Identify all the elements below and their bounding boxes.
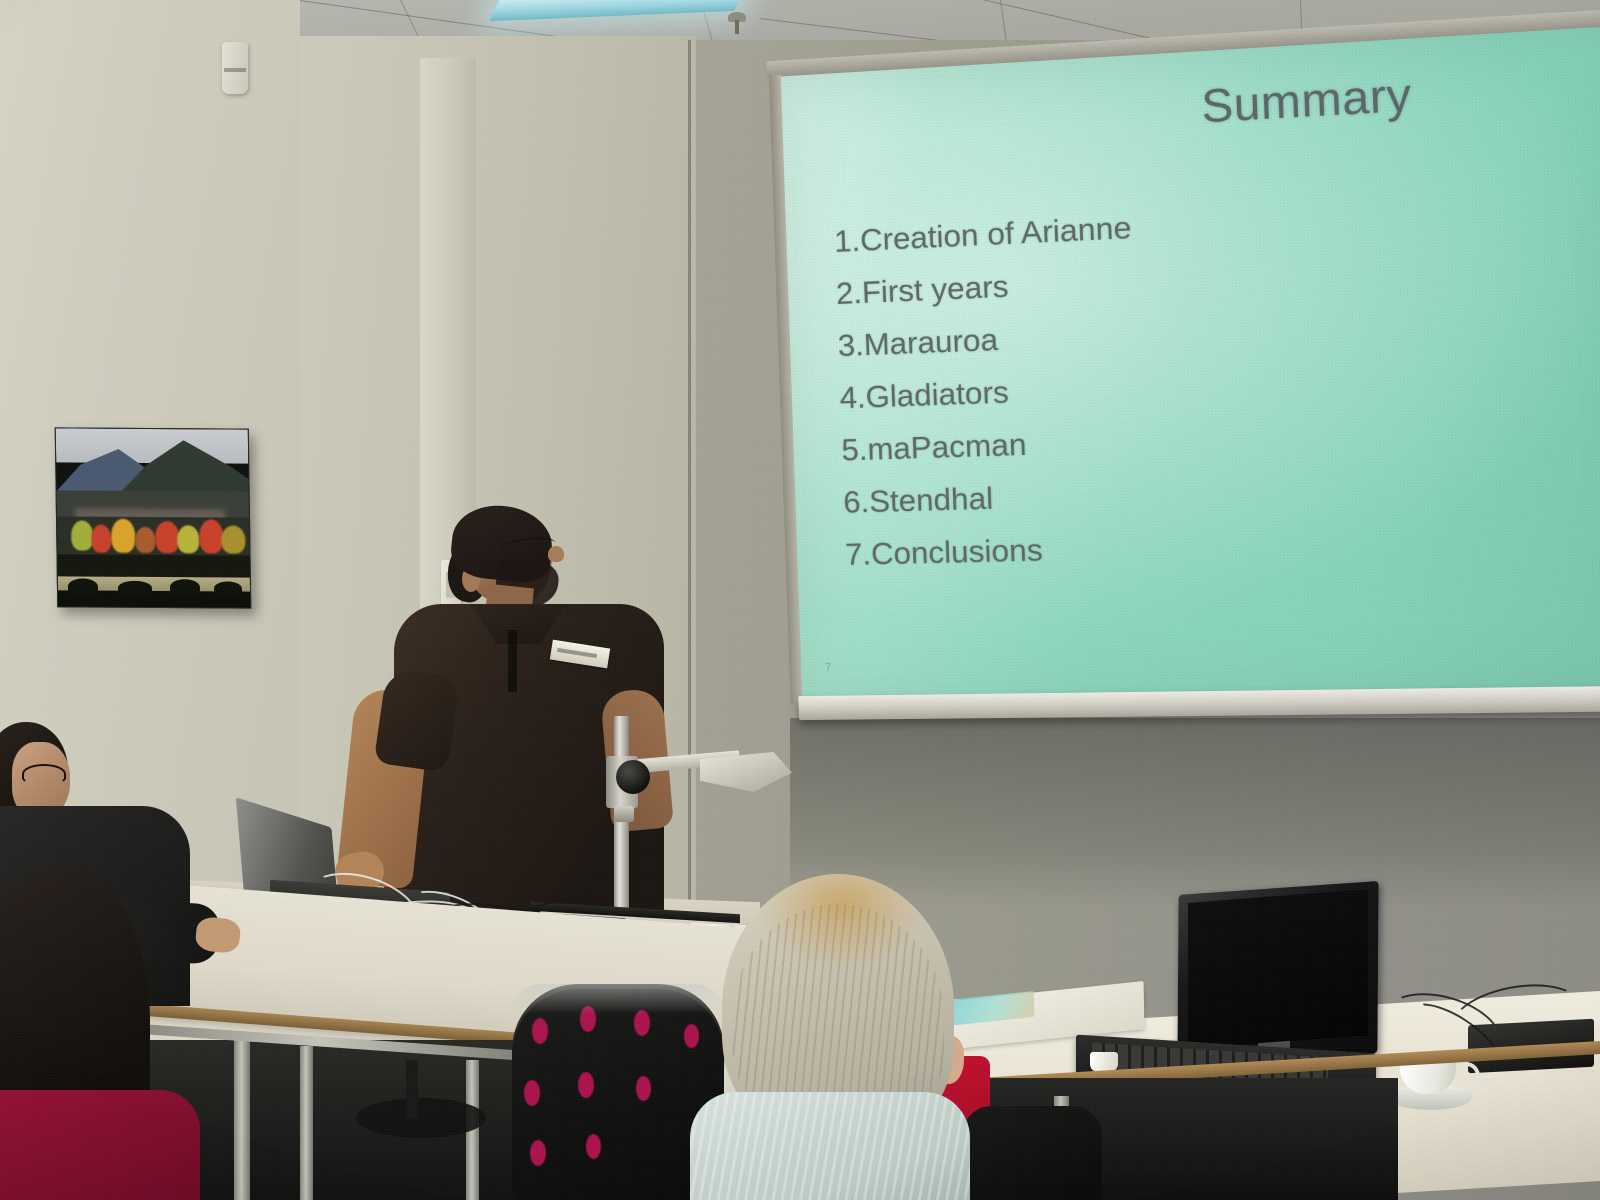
picture-bush: [214, 581, 242, 595]
projected-slide: Summary 1.Creation of Arianne 2.First ye…: [781, 25, 1600, 698]
chair-post: [406, 1060, 418, 1118]
audience-glasses-icon: [22, 764, 66, 784]
slide-list-number: 3.: [837, 329, 864, 361]
picture-foliage: [221, 525, 245, 553]
picture-bush: [68, 578, 98, 594]
audience-center-foreground: [690, 1092, 970, 1200]
slide-list-item: 5.maPacman: [841, 410, 1581, 465]
slide-list-text: Gladiators: [865, 374, 1009, 414]
wall-sensor-band: [224, 68, 246, 72]
slide-list-number: 6.: [843, 486, 870, 518]
picture-foliage: [199, 519, 223, 553]
projection-screen: Summary 1.Creation of Arianne 2.First ye…: [781, 25, 1600, 724]
chair-dot: [578, 1072, 594, 1098]
wall-picture-autumn-landscape: [55, 427, 252, 608]
slide-list-item: 4.Gladiators: [839, 355, 1579, 413]
slide-agenda-list: 1.Creation of Arianne 2.First years 3.Ma…: [834, 190, 1586, 591]
table-leg: [234, 1034, 250, 1200]
wall-shadow: [790, 718, 1600, 908]
black-laptop-screen[interactable]: [1188, 889, 1368, 1049]
chair-dot: [636, 1076, 651, 1101]
slide-list-item: 2.First years: [836, 245, 1575, 309]
slide-list-text: maPacman: [867, 426, 1027, 466]
picture-foliage: [71, 520, 93, 550]
picture-foliage: [155, 521, 179, 553]
teacup-handle: [1452, 1062, 1480, 1090]
picture-bush: [170, 579, 200, 595]
picture-foliage: [111, 519, 135, 553]
chair-dot: [532, 1018, 548, 1044]
chair-top-rim: [512, 984, 724, 1014]
picture-sky: [56, 428, 249, 463]
audience-left-maroon-top: [0, 1090, 200, 1200]
overhead-projector-lens-icon: [616, 760, 650, 794]
presenter-shirt-placket: [508, 630, 517, 692]
picture-bush: [118, 581, 152, 595]
picture-foliage: [135, 527, 155, 553]
black-chair-right[interactable]: [962, 1106, 1102, 1200]
slide-list-text: Conclusions: [870, 532, 1043, 571]
slide-list-text: Marauroa: [863, 322, 999, 363]
picture-foliage: [177, 525, 199, 553]
sprinkler-stem: [735, 20, 739, 34]
slide-list-item: 6.Stendhal: [843, 466, 1583, 518]
slide-list-text: First years: [861, 268, 1009, 310]
slide-list-number: 5.: [841, 434, 868, 466]
picture-foliage: [91, 525, 111, 553]
wall-corner-edge: [688, 40, 691, 940]
chair-dot: [586, 1134, 601, 1159]
overhead-projector-focus-knob[interactable]: [614, 806, 634, 822]
chair-base: [356, 1098, 486, 1138]
slide-list-number: 2.: [836, 277, 863, 309]
slide-list-number: 4.: [839, 381, 866, 413]
slide-list-number: 7.: [845, 538, 872, 570]
chair-dot: [530, 1140, 546, 1166]
slide-list-item: 3.Marauroa: [837, 300, 1576, 361]
presentation-room-photo: Summary 1.Creation of Arianne 2.First ye…: [0, 0, 1600, 1200]
slide-page-number: 7: [825, 662, 832, 674]
slide-list-item: 7.Conclusions: [845, 521, 1585, 570]
chair-dot: [684, 1024, 699, 1048]
chair-dot: [524, 1080, 540, 1106]
slide-list-number: 1.: [834, 225, 861, 257]
table-leg: [300, 1046, 313, 1200]
slide-list-text: Stendhal: [869, 480, 994, 519]
